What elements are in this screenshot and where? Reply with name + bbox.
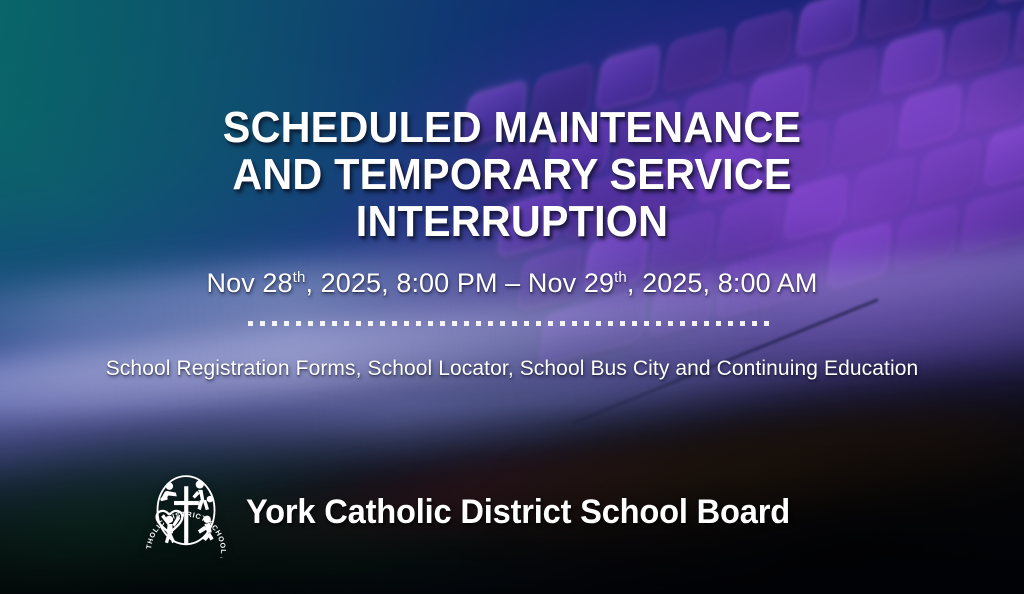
banner-headline: SCHEDULED MAINTENANCE AND TEMPORARY SERV… <box>31 104 994 245</box>
start-date-time: , 2025, 8:00 PM <box>305 268 497 298</box>
banner-content: SCHEDULED MAINTENANCE AND TEMPORARY SERV… <box>0 0 1024 594</box>
headline-line-3: INTERRUPTION <box>31 198 994 245</box>
organization-logo-lockup: YORK CATHOLIC DISTRICT SCHOOL BOARD York… <box>140 466 813 558</box>
headline-line-2: AND TEMPORARY SERVICE <box>31 151 994 198</box>
end-date-ordinal: th <box>614 269 627 286</box>
start-date-ordinal: th <box>293 269 306 286</box>
dotted-divider <box>248 321 776 326</box>
start-date: Nov 28 <box>206 268 292 298</box>
maintenance-window-date-range: Nov 28th, 2025, 8:00 PM – Nov 29th, 2025… <box>0 268 1024 299</box>
organization-name: York Catholic District School Board <box>246 493 790 532</box>
ycdsb-crest-logo-icon: YORK CATHOLIC DISTRICT SCHOOL BOARD <box>140 466 232 558</box>
affected-services-text: School Registration Forms, School Locato… <box>0 357 1024 381</box>
headline-line-1: SCHEDULED MAINTENANCE <box>31 104 994 151</box>
end-date-time: , 2025, 8:00 AM <box>627 268 818 298</box>
date-range-separator: – <box>498 268 528 298</box>
end-date: Nov 29 <box>528 268 614 298</box>
maintenance-announcement-banner: SCHEDULED MAINTENANCE AND TEMPORARY SERV… <box>0 0 1024 594</box>
